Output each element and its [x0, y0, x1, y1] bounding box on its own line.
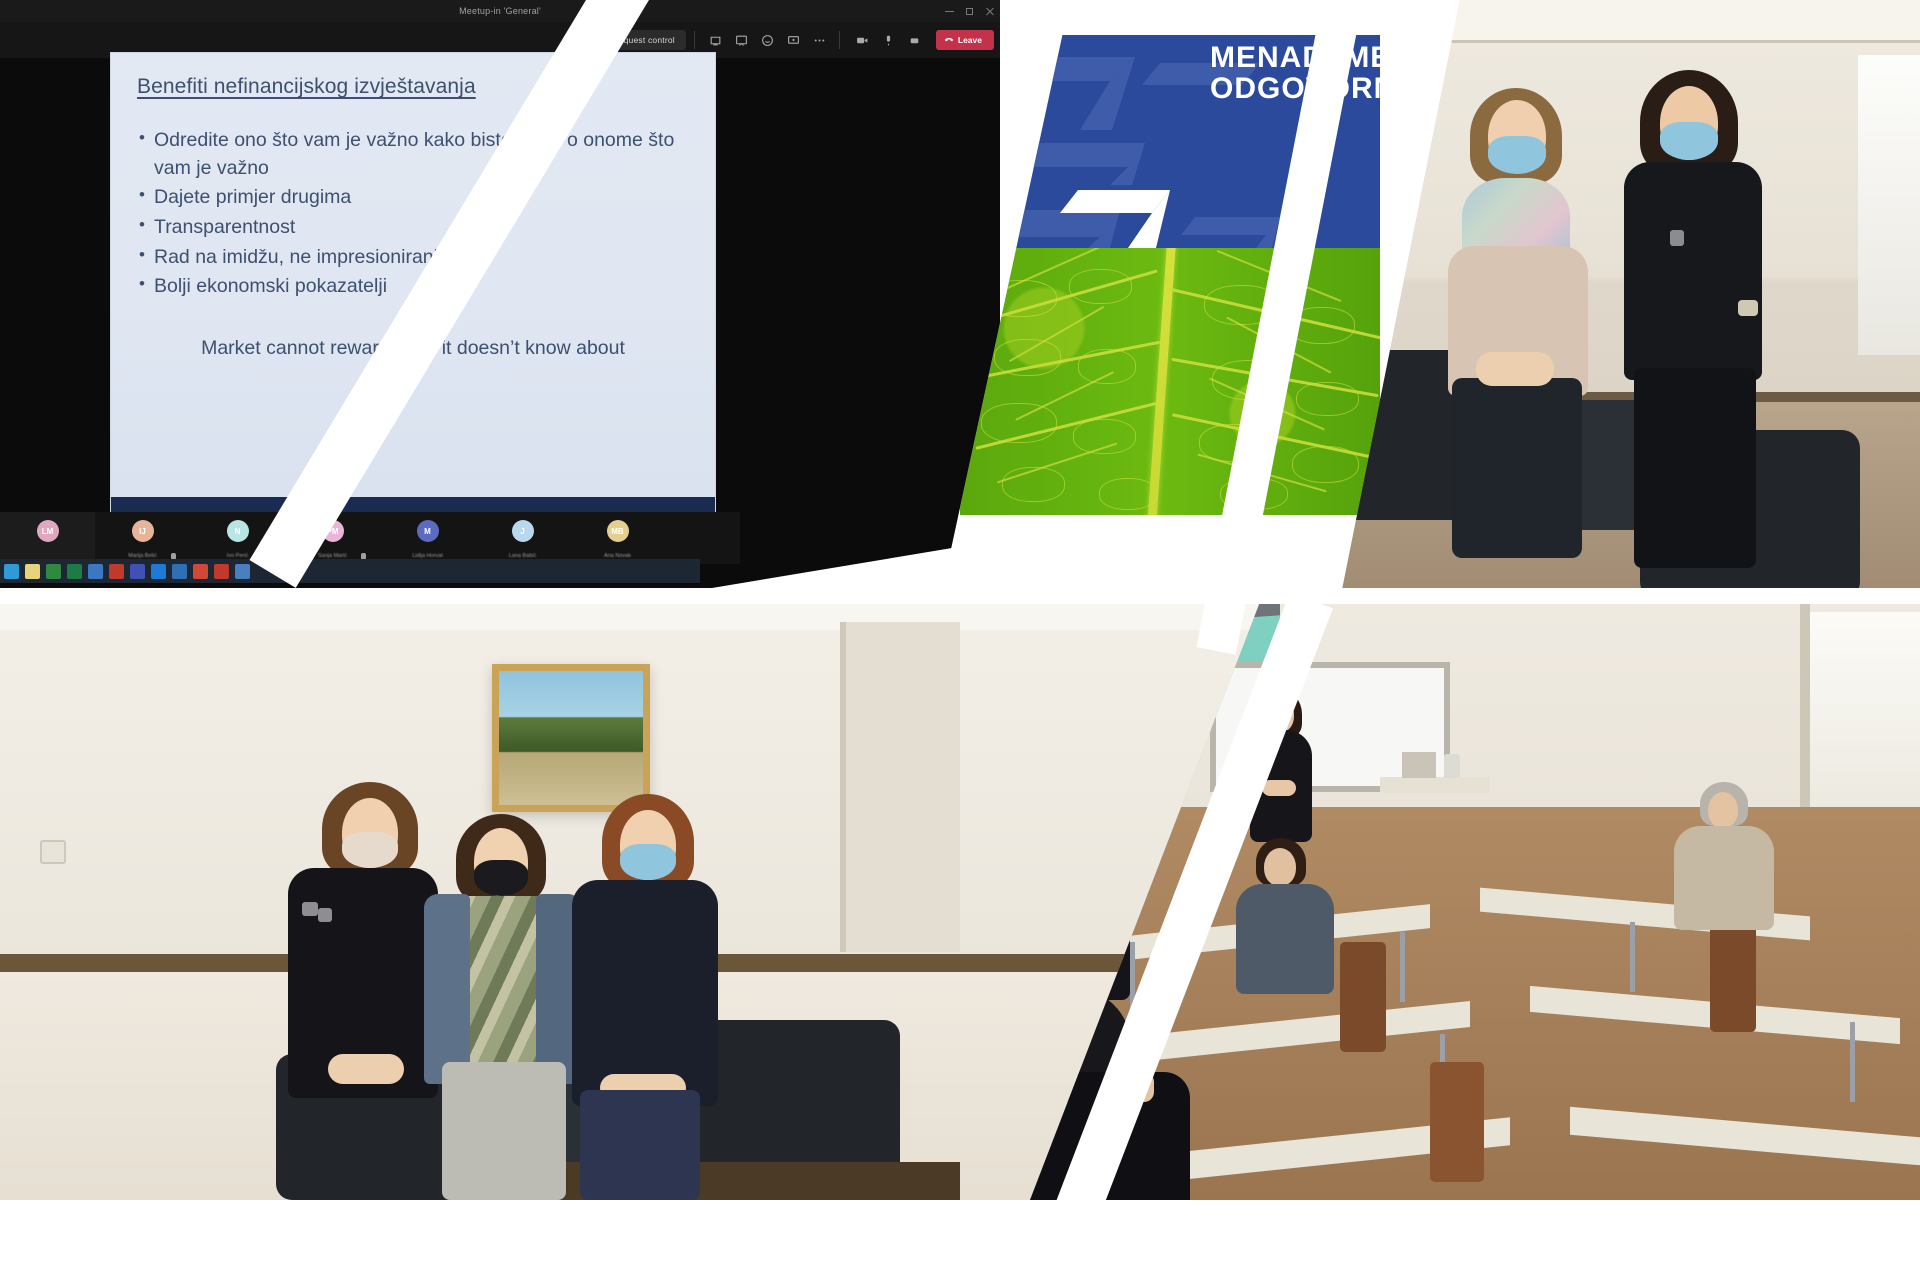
close-icon[interactable] — [985, 7, 994, 16]
folder-icon[interactable] — [46, 564, 61, 579]
more-options-icon[interactable] — [807, 29, 833, 51]
framed-landscape-painting — [492, 664, 650, 812]
avatar: M — [417, 520, 439, 542]
phone-hangup-icon — [944, 35, 954, 45]
raise-hand-icon[interactable] — [902, 29, 928, 51]
share-screen-icon[interactable] — [781, 29, 807, 51]
participants-filmstrip: LMIJMarija BelićNIvo PerićPMSanja MarićM… — [0, 512, 740, 564]
camera-icon[interactable] — [850, 29, 876, 51]
window — [1800, 612, 1920, 812]
door-frame — [840, 622, 960, 952]
podium-table — [1380, 777, 1490, 793]
windows-taskbar[interactable] — [0, 559, 700, 583]
leave-call-label: Leave — [958, 35, 982, 45]
participant-tile[interactable]: JLana Babić — [475, 512, 570, 564]
logo-detail — [1670, 230, 1684, 246]
slide-title: Benefiti nefinancijskog izvještavanja — [137, 75, 689, 99]
torso — [1624, 162, 1762, 380]
participant-tile[interactable]: MBAna Novak — [570, 512, 665, 564]
microphone-icon[interactable] — [876, 29, 902, 51]
teams-window-title: Meetup-in 'General' — [459, 6, 541, 16]
hands — [1476, 352, 1554, 386]
leave-call-button[interactable]: Leave — [936, 30, 994, 50]
wall-outlet — [40, 840, 66, 864]
participant-tile[interactable]: IJMarija Belić — [95, 512, 190, 564]
trousers — [1452, 378, 1582, 558]
slide-bullet-list: Odredite ono što vam je važno kako biste… — [137, 127, 689, 301]
head — [1264, 848, 1296, 886]
torso — [1674, 826, 1774, 930]
acrobat-icon[interactable] — [214, 564, 229, 579]
window-controls[interactable] — [945, 0, 994, 22]
avatar: MB — [607, 520, 629, 542]
torso — [1236, 884, 1334, 994]
teams-icon[interactable] — [88, 564, 103, 579]
office-chair — [700, 1020, 900, 1185]
give-control-icon[interactable] — [703, 29, 729, 51]
participant-tile[interactable]: LM — [0, 512, 95, 564]
avatar: J — [512, 520, 534, 542]
powerpoint-icon[interactable] — [193, 564, 208, 579]
horizontal-seam — [0, 588, 1920, 604]
face-mask — [1660, 122, 1718, 160]
wristwatch — [1738, 300, 1758, 316]
avatar: IJ — [132, 520, 154, 542]
hands — [1262, 780, 1296, 796]
excel-icon[interactable] — [67, 564, 82, 579]
window — [1858, 55, 1920, 355]
classroom-chair — [1710, 922, 1756, 1032]
classroom-chair — [1430, 1062, 1484, 1182]
reactions-icon[interactable] — [755, 29, 781, 51]
water-bottle — [1444, 754, 1460, 778]
trousers — [442, 1062, 566, 1200]
start-icon[interactable] — [4, 564, 19, 579]
mail-icon[interactable] — [235, 564, 250, 579]
minimize-icon[interactable] — [945, 7, 954, 16]
edge-icon[interactable] — [151, 564, 166, 579]
toolbar-divider-2 — [839, 31, 840, 49]
slide-bullet: Transparentnost — [137, 214, 689, 242]
word-icon[interactable] — [130, 564, 145, 579]
logo-leaf-photo — [960, 248, 1380, 515]
slide-bullet: Dajete primjer drugima — [137, 184, 689, 212]
face-mask — [1488, 136, 1546, 174]
skirt — [580, 1090, 700, 1200]
maximize-icon[interactable] — [965, 7, 974, 16]
denim-jacket — [424, 894, 470, 1084]
ceiling — [0, 602, 1300, 630]
classroom-chair — [1340, 942, 1386, 1052]
participant-tile[interactable]: MLidija Horvat — [380, 512, 475, 564]
face-mask — [620, 844, 676, 880]
trousers — [1634, 368, 1756, 568]
logo-detail — [302, 902, 318, 916]
file-explorer-icon[interactable] — [25, 564, 40, 579]
avatar: LM — [37, 520, 59, 542]
photo-teams-screenshare: Meetup-in 'General' Request control — [0, 0, 1000, 600]
toolbar-divider — [694, 31, 695, 49]
torso — [572, 880, 718, 1106]
logo-detail — [318, 908, 332, 922]
settings-icon[interactable] — [172, 564, 187, 579]
present-icon[interactable] — [729, 29, 755, 51]
face-mask — [474, 860, 528, 896]
hands — [328, 1054, 404, 1084]
pdf-icon[interactable] — [109, 564, 124, 579]
window-frame — [1800, 602, 1810, 832]
laptop — [1402, 752, 1436, 778]
avatar: N — [227, 520, 249, 542]
head — [1708, 792, 1738, 828]
face-mask — [342, 832, 398, 868]
slide-bullet: Rad na imidžu, ne impresioniranje — [137, 244, 689, 272]
slide-bullet: Odredite ono što vam je važno kako biste… — [137, 127, 689, 182]
photo-collage: Meetup-in 'General' Request control — [0, 0, 1920, 1200]
teams-titlebar: Meetup-in 'General' — [0, 0, 1000, 22]
